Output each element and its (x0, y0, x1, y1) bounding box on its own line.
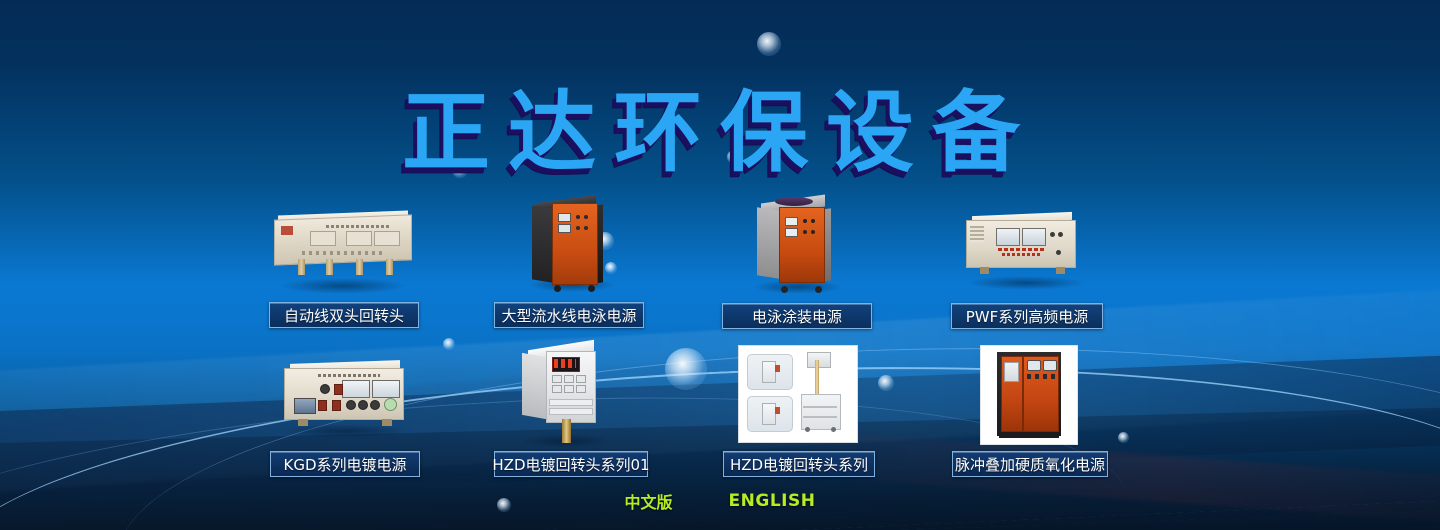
machine-foot (382, 419, 392, 426)
cabinet-knob (811, 219, 815, 223)
cabinet-knob (584, 226, 588, 230)
machine-switch (1056, 250, 1061, 255)
stand-wheel (805, 427, 810, 432)
machine-panel (346, 231, 372, 246)
product-image-auto-line-double-head-rotator[interactable] (268, 213, 418, 275)
unit-display-digits (554, 359, 576, 368)
cabinet-basin (775, 197, 813, 206)
machine-label-text (326, 225, 390, 228)
composite-device (762, 403, 776, 425)
stand-pole (815, 360, 819, 394)
machine-foot (298, 419, 308, 426)
machine-knob (346, 400, 356, 410)
machine-label-text (318, 374, 380, 377)
product-label-auto-line-double-head-rotator[interactable]: 自动线双头回转头 (269, 302, 419, 328)
machine-logo (281, 226, 293, 235)
machine-switch (1058, 232, 1063, 237)
language-link-english[interactable]: ENGLISH (729, 491, 816, 511)
unit-side (522, 353, 546, 419)
product-label-hzd-plating-rotator-series[interactable]: HZD电镀回转头系列 (723, 451, 875, 477)
stand-head (807, 352, 831, 368)
cabinet-control-panel (1004, 362, 1019, 382)
cabinet-caster (815, 286, 822, 293)
machine-panel (374, 231, 400, 246)
product-image-hzd-plating-rotator-series-01[interactable] (522, 345, 608, 445)
product-image-kgd-series-plating-power[interactable] (278, 360, 408, 432)
cabinet-meter (1043, 360, 1057, 371)
stand-shelf (803, 406, 837, 408)
cabinet-side (757, 207, 779, 278)
machine-gauge (1022, 228, 1046, 246)
composite-inset (747, 396, 793, 432)
cabinet-caster (554, 285, 561, 292)
machine-knob (358, 400, 368, 410)
unit-shaft (562, 419, 571, 443)
product-image-pulse-superimposed-hard-anodizing-power[interactable] (980, 345, 1078, 445)
machine-button (332, 400, 341, 411)
cabinet-base (999, 432, 1059, 438)
machine-leg (298, 259, 305, 275)
product-label-pulse-superimposed-hard-anodizing-power[interactable]: 脉冲叠加硬质氧化电源 (952, 451, 1108, 477)
product-shadow (278, 278, 408, 294)
unit-key (576, 375, 586, 383)
cabinet-knob (803, 230, 807, 234)
product-image-large-assembly-line-electrophoresis-power[interactable] (532, 197, 606, 289)
cabinet-knob (576, 226, 580, 230)
product-label-pwf-series-high-frequency-power[interactable]: PWF系列高频电源 (951, 303, 1103, 329)
splash-page: 正达环保设备 自动线双头回转头 (0, 0, 1440, 530)
stand-shelf (803, 416, 837, 418)
cabinet-knob (584, 215, 588, 219)
machine-knob (370, 400, 380, 410)
machine-vent (970, 226, 984, 242)
product-grid: 自动线双头回转头 大型流水线电泳电源 (0, 0, 1440, 530)
machine-display (294, 398, 316, 414)
product-image-hzd-plating-rotator-series[interactable] (738, 345, 858, 443)
machine-panel (310, 231, 336, 246)
machine-brand-text (1002, 253, 1042, 256)
cabinet-switch (1043, 374, 1047, 379)
machine-terminal-row (302, 251, 384, 255)
composite-device-accent (775, 365, 780, 372)
cabinet-caster (781, 286, 788, 293)
cabinet-meter (785, 228, 798, 237)
language-link-chinese[interactable]: 中文版 (625, 489, 673, 513)
machine-gauge (996, 228, 1020, 246)
machine-gauge (372, 380, 400, 398)
machine-switch (1050, 232, 1055, 237)
machine-knob (320, 384, 330, 394)
stand-wheel (831, 427, 836, 432)
unit-key (564, 375, 574, 383)
unit-band (549, 399, 593, 406)
machine-button (318, 400, 327, 411)
product-label-electrophoretic-coating-power[interactable]: 电泳涂装电源 (722, 303, 872, 329)
unit-key (552, 375, 562, 383)
cabinet-switch (1027, 374, 1031, 379)
product-label-large-assembly-line-electrophoresis-power[interactable]: 大型流水线电泳电源 (494, 302, 644, 328)
machine-model-text (998, 248, 1046, 251)
cabinet-knob (803, 219, 807, 223)
cabinet-meter (1027, 360, 1041, 371)
product-label-hzd-plating-rotator-series-01[interactable]: HZD电镀回转头系列01 (494, 451, 648, 477)
cabinet-side (532, 205, 552, 282)
machine-leg (326, 259, 333, 275)
cabinet-meter (558, 224, 571, 233)
cabinet-caster (588, 285, 595, 292)
unit-key (552, 385, 562, 393)
machine-indicator (384, 398, 397, 411)
cabinet-switch (1035, 374, 1039, 379)
language-bar: 中文版 ENGLISH (0, 489, 1440, 513)
product-image-pwf-series-high-frequency-power[interactable] (962, 212, 1080, 280)
cabinet-knob (811, 230, 815, 234)
machine-gauge (342, 380, 370, 398)
product-label-kgd-series-plating-power[interactable]: KGD系列电镀电源 (270, 451, 420, 477)
unit-band (549, 408, 593, 415)
product-image-electrophoretic-coating-power[interactable] (757, 195, 835, 290)
unit-key (564, 385, 574, 393)
machine-leg (356, 259, 363, 275)
machine-button (334, 384, 343, 395)
cabinet-meter (558, 213, 571, 222)
machine-foot (1056, 267, 1065, 274)
unit-key (576, 385, 586, 393)
cabinet-meter (785, 217, 798, 226)
cabinet-switch (1051, 374, 1055, 379)
composite-device-accent (775, 407, 780, 414)
machine-foot (980, 267, 989, 274)
composite-device (762, 361, 776, 383)
cabinet-knob (576, 215, 580, 219)
composite-inset (747, 354, 793, 390)
machine-leg (386, 259, 393, 275)
stand-cart (801, 394, 841, 430)
